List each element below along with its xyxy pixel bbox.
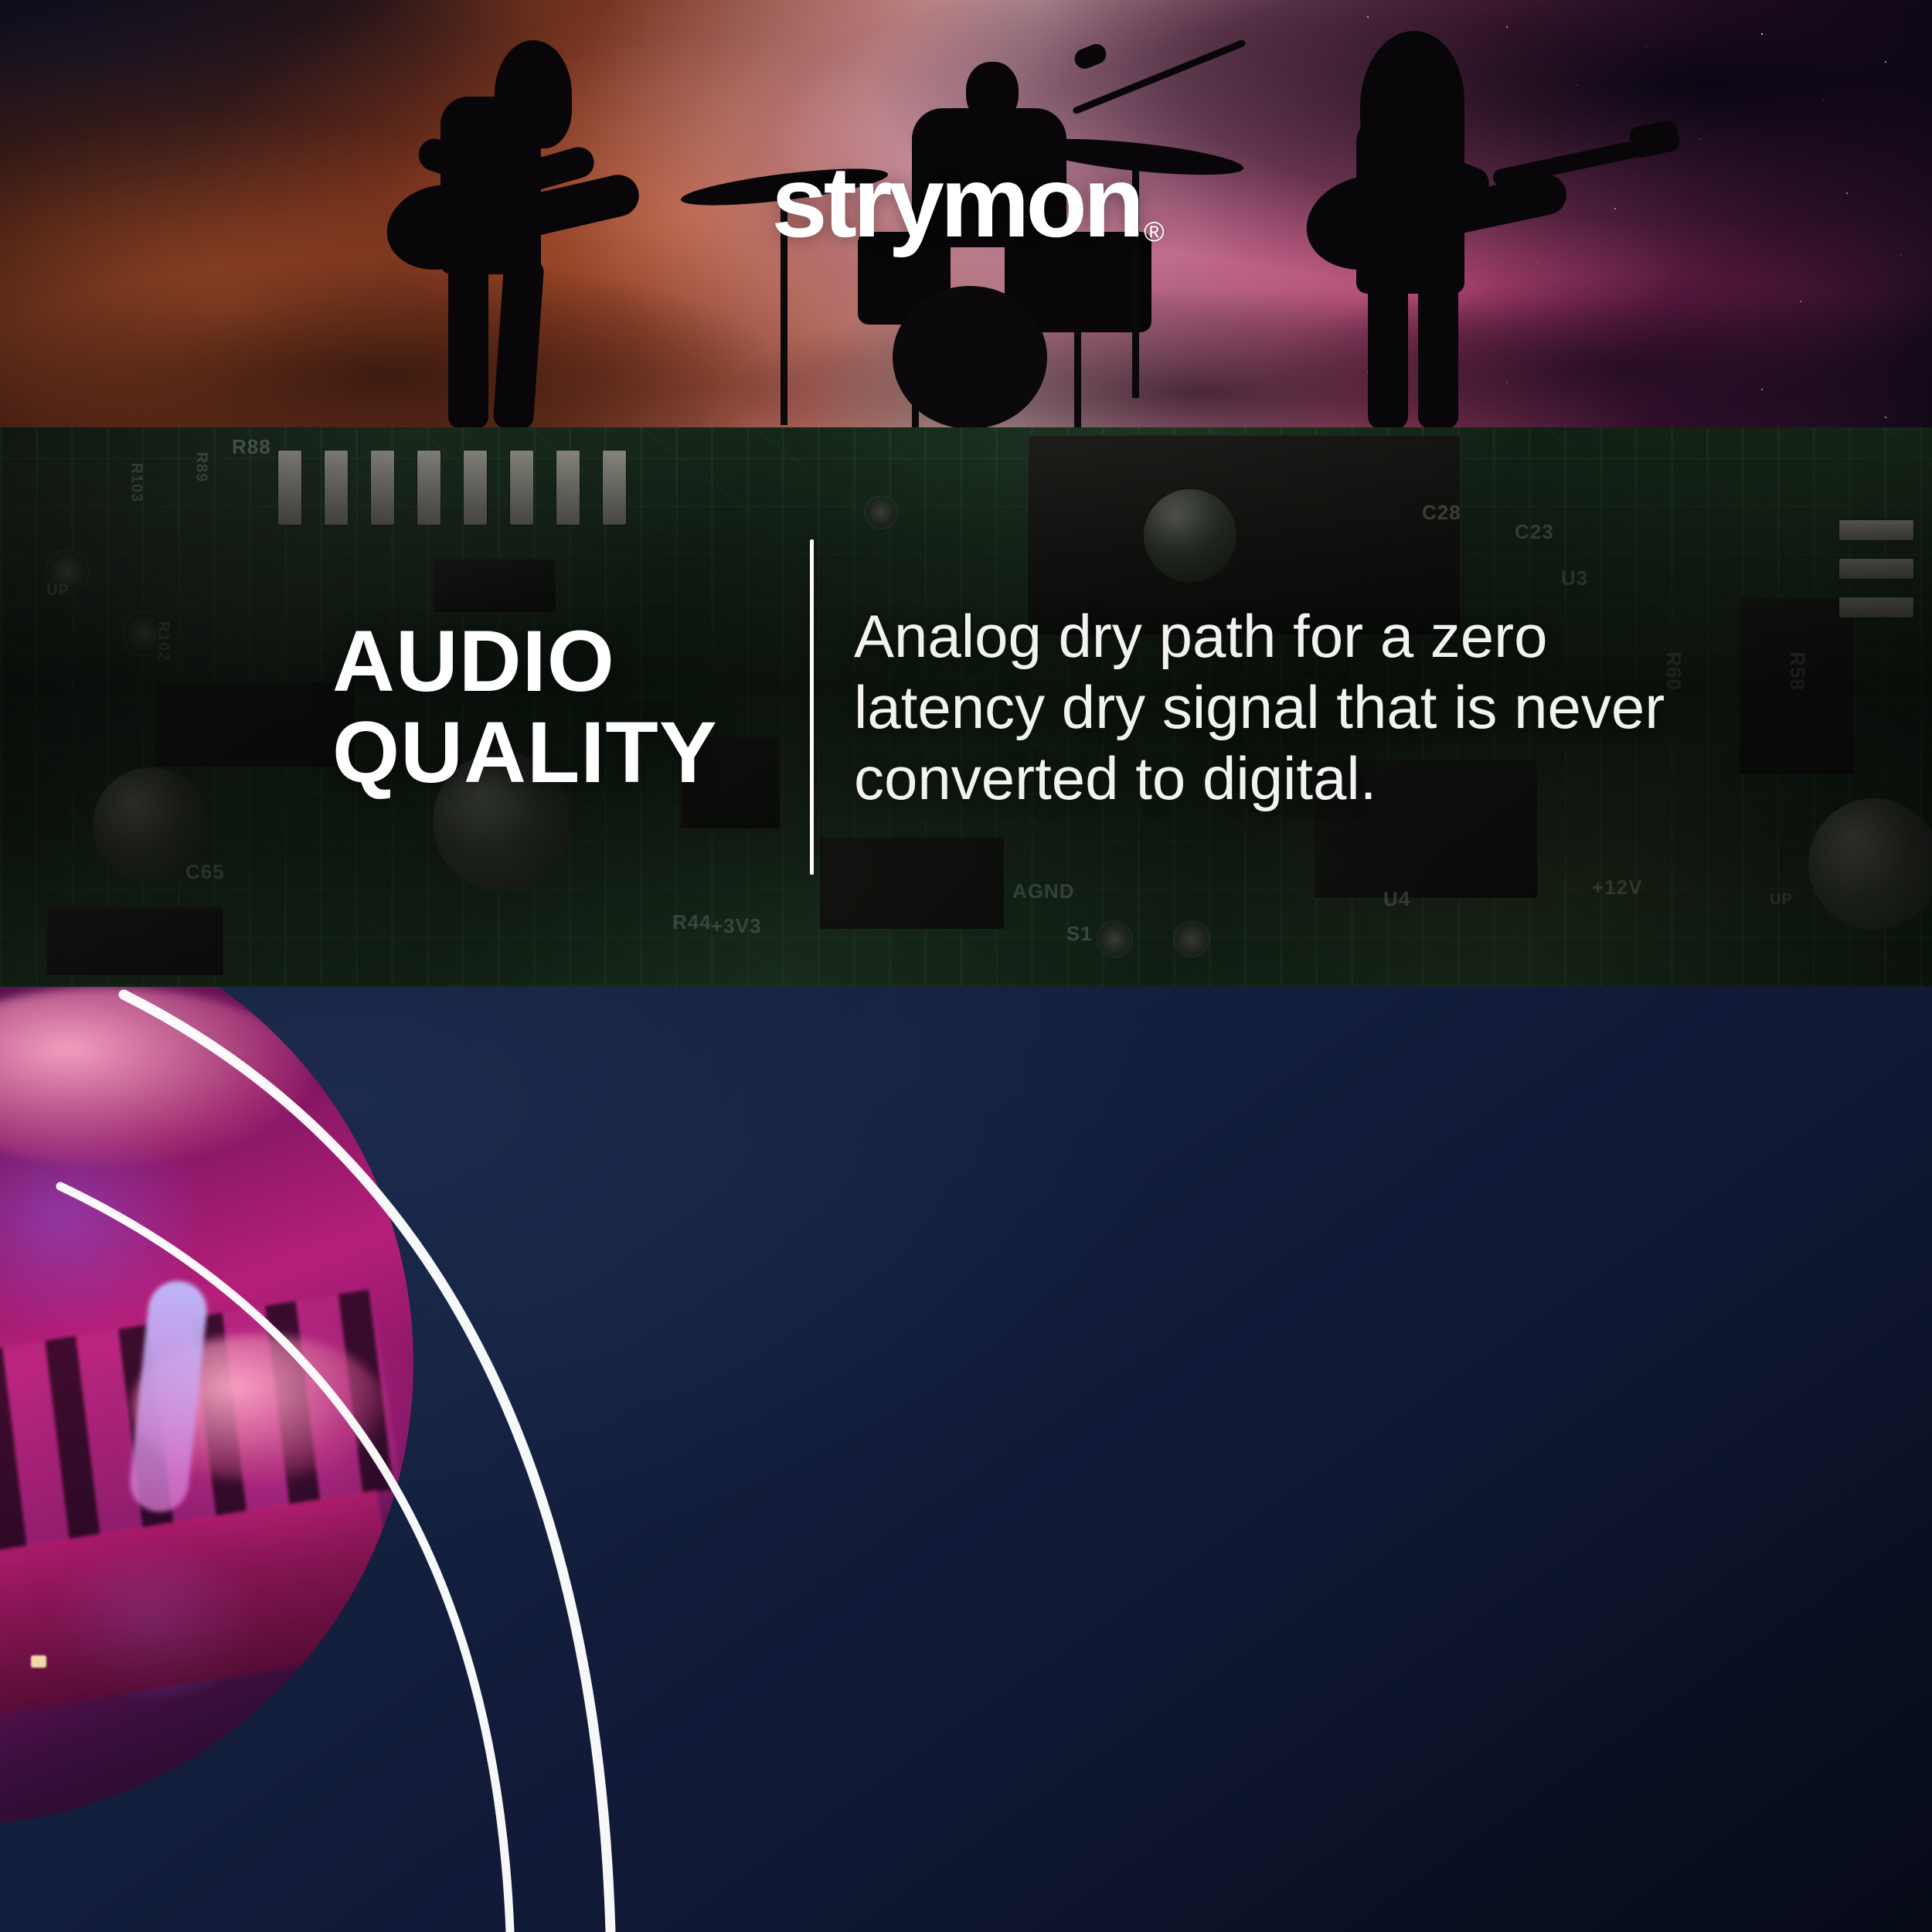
- brand-logo: strymon®: [771, 151, 1160, 252]
- hero-banner: strymon®: [0, 0, 1932, 427]
- decorative-arcs: [0, 987, 1005, 1932]
- features-section: • High performance 24-bit 96kHz A/D and …: [0, 987, 1932, 1932]
- audio-quality-description: Analog dry path for a zero latency dry s…: [854, 600, 1727, 814]
- audio-quality-section: R88 R89 R103 R102 C28 C23 U3 U4 R44 C65 …: [0, 427, 1932, 987]
- vertical-divider: [810, 539, 814, 875]
- audio-quality-heading: AUDIO QUALITY: [332, 616, 796, 798]
- heading-line-2: QUALITY: [332, 707, 796, 798]
- registered-trademark-icon: ®: [1144, 216, 1161, 247]
- heading-line-1: AUDIO: [332, 616, 796, 707]
- brand-logo-text: strymon: [771, 145, 1141, 258]
